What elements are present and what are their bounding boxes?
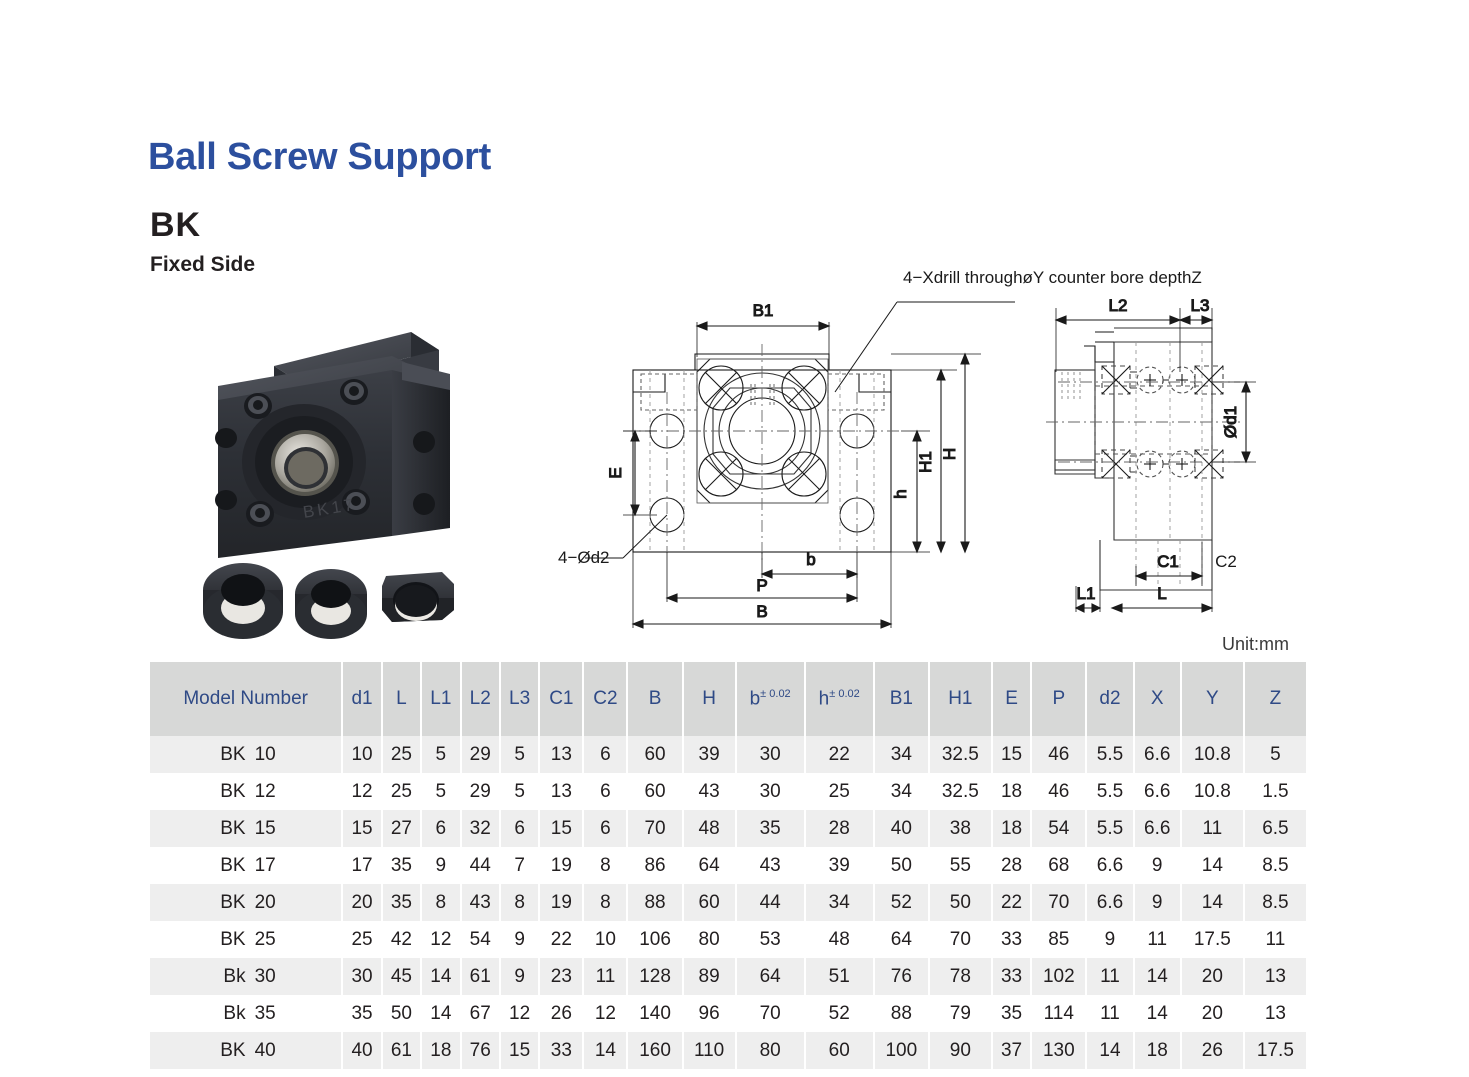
cell-L3: 5 (501, 773, 538, 810)
cell-model: BK12 (150, 773, 341, 810)
cell-d2: 9 (1087, 921, 1132, 958)
cell-model: BK10 (150, 736, 341, 773)
cell-H1: 55 (930, 847, 991, 884)
cell-Y: 17.5 (1182, 921, 1243, 958)
cell-B: 70 (628, 810, 681, 847)
page-title: Ball Screw Support (148, 136, 491, 179)
callout-counterbore (835, 302, 1015, 392)
cell-Z: 5 (1245, 736, 1306, 773)
cell-C1: 13 (540, 773, 582, 810)
cell-L: 61 (383, 1032, 420, 1069)
cell-d1: 17 (343, 847, 380, 884)
cell-L3: 12 (501, 995, 538, 1032)
photo-accessory-rings (203, 563, 454, 639)
cell-E: 28 (993, 847, 1030, 884)
cell-L3: 5 (501, 736, 538, 773)
cell-h: 39 (806, 847, 873, 884)
cell-Y: 11 (1182, 810, 1243, 847)
side-view-drawing: L2 L3 Ød1 (1040, 290, 1300, 615)
cell-L1: 6 (422, 810, 459, 847)
cell-Y: 14 (1182, 884, 1243, 921)
cell-Y: 10.8 (1182, 736, 1243, 773)
cell-H1: 70 (930, 921, 991, 958)
cell-H1: 32.5 (930, 773, 991, 810)
cell-B1: 34 (875, 773, 928, 810)
cell-L: 35 (383, 884, 420, 921)
dim-label-d1: Ød1 (1221, 406, 1240, 438)
cell-L2: 43 (462, 884, 499, 921)
cell-P: 85 (1032, 921, 1085, 958)
cell-L: 25 (383, 736, 420, 773)
dim-label-C2: C2 (1215, 552, 1237, 571)
cell-model: Bk30 (150, 958, 341, 995)
col-header-b: b± 0.02 (737, 662, 804, 736)
cell-L: 50 (383, 995, 420, 1032)
cell-b: 80 (737, 1032, 804, 1069)
cell-b: 43 (737, 847, 804, 884)
cell-d2: 6.6 (1087, 847, 1132, 884)
cell-b: 53 (737, 921, 804, 958)
cell-C2: 6 (584, 810, 626, 847)
cell-B: 88 (628, 884, 681, 921)
dim-L1: L1 (1076, 584, 1100, 612)
cell-d1: 12 (343, 773, 380, 810)
cell-b: 70 (737, 995, 804, 1032)
table-row: BK151527632615670483528403818545.56.6116… (150, 810, 1306, 847)
cell-X: 14 (1135, 995, 1180, 1032)
cell-h: 51 (806, 958, 873, 995)
cell-Z: 17.5 (1245, 1032, 1306, 1069)
col-header-B: B (628, 662, 681, 736)
dim-label-B: B (756, 602, 767, 621)
cell-E: 18 (993, 773, 1030, 810)
cell-d1: 20 (343, 884, 380, 921)
cell-L1: 5 (422, 773, 459, 810)
cell-Y: 20 (1182, 958, 1243, 995)
cell-P: 54 (1032, 810, 1085, 847)
cell-L2: 32 (462, 810, 499, 847)
cell-model: BK40 (150, 1032, 341, 1069)
cell-E: 18 (993, 810, 1030, 847)
cell-B1: 52 (875, 884, 928, 921)
cell-B1: 50 (875, 847, 928, 884)
col-header-X: X (1135, 662, 1180, 736)
cell-b: 30 (737, 773, 804, 810)
cell-C1: 19 (540, 884, 582, 921)
col-header-Y: Y (1182, 662, 1243, 736)
cell-C2: 8 (584, 847, 626, 884)
cell-C2: 8 (584, 884, 626, 921)
dim-B1: B1 (697, 301, 829, 357)
cell-Y: 10.8 (1182, 773, 1243, 810)
cell-h: 28 (806, 810, 873, 847)
cell-X: 18 (1135, 1032, 1180, 1069)
cell-B: 60 (628, 773, 681, 810)
table-row: Bk35355014671226121409670528879351141114… (150, 995, 1306, 1032)
cell-Y: 14 (1182, 847, 1243, 884)
cell-L: 25 (383, 773, 420, 810)
table-header: Model Numberd1LL1L2L3C1C2BHb± 0.02h± 0.0… (150, 662, 1306, 736)
col-header-P: P (1032, 662, 1085, 736)
cell-C2: 11 (584, 958, 626, 995)
dim-label-H: H (940, 448, 959, 460)
cell-d1: 40 (343, 1032, 380, 1069)
cell-P: 114 (1032, 995, 1085, 1032)
cell-H: 60 (684, 884, 735, 921)
dim-label-C1: C1 (1157, 552, 1179, 571)
cell-L1: 18 (422, 1032, 459, 1069)
dim-L2: L2 (1056, 296, 1180, 372)
cell-L3: 9 (501, 921, 538, 958)
cell-B: 106 (628, 921, 681, 958)
cell-C1: 19 (540, 847, 582, 884)
cell-C2: 12 (584, 995, 626, 1032)
cell-h: 22 (806, 736, 873, 773)
cell-d1: 15 (343, 810, 380, 847)
cell-H: 89 (684, 958, 735, 995)
cell-C2: 14 (584, 1032, 626, 1069)
col-header-B1: B1 (875, 662, 928, 736)
cell-b: 44 (737, 884, 804, 921)
cell-L2: 61 (462, 958, 499, 995)
cell-L2: 76 (462, 1032, 499, 1069)
table-row: BK2525421254922101068053486470338591117.… (150, 921, 1306, 958)
cell-H: 48 (684, 810, 735, 847)
cell-C1: 26 (540, 995, 582, 1032)
col-header-d2: d2 (1087, 662, 1132, 736)
cell-H: 64 (684, 847, 735, 884)
cell-X: 11 (1135, 921, 1180, 958)
cell-P: 46 (1032, 736, 1085, 773)
cell-P: 130 (1032, 1032, 1085, 1069)
dim-L: L (1112, 584, 1212, 612)
cell-X: 9 (1135, 847, 1180, 884)
cell-Z: 13 (1245, 995, 1306, 1032)
table-row: BK1010255295136603930223432.515465.56.61… (150, 736, 1306, 773)
cell-L: 45 (383, 958, 420, 995)
dim-H: H (891, 354, 981, 552)
cell-B: 60 (628, 736, 681, 773)
cell-B1: 40 (875, 810, 928, 847)
table-row: BK171735944719886644339505528686.69148.5 (150, 847, 1306, 884)
cell-d2: 5.5 (1087, 736, 1132, 773)
cell-H: 96 (684, 995, 735, 1032)
cell-L1: 9 (422, 847, 459, 884)
dim-label-L3: L3 (1191, 296, 1210, 315)
table-row: Bk30304514619231112889645176783310211142… (150, 958, 1306, 995)
cell-d1: 10 (343, 736, 380, 773)
cell-b: 35 (737, 810, 804, 847)
cell-model: BK17 (150, 847, 341, 884)
cell-L1: 8 (422, 884, 459, 921)
model-series-title: BK (150, 206, 201, 245)
dim-label-h: h (891, 489, 910, 498)
table-body: BK1010255295136603930223432.515465.56.61… (150, 736, 1306, 1069)
unit-label: Unit:mm (1222, 634, 1289, 655)
cell-L3: 15 (501, 1032, 538, 1069)
table-row: BK40406118761533141601108060100903713014… (150, 1032, 1306, 1069)
cell-H1: 38 (930, 810, 991, 847)
cell-L: 27 (383, 810, 420, 847)
cell-X: 6.6 (1135, 810, 1180, 847)
cell-d1: 25 (343, 921, 380, 958)
col-header-h: h± 0.02 (806, 662, 873, 736)
cell-d1: 35 (343, 995, 380, 1032)
cell-C2: 6 (584, 736, 626, 773)
dim-label-L2: L2 (1109, 296, 1128, 315)
cell-P: 46 (1032, 773, 1085, 810)
cell-d1: 30 (343, 958, 380, 995)
cell-model: BK15 (150, 810, 341, 847)
col-header-L2: L2 (462, 662, 499, 736)
cell-C1: 22 (540, 921, 582, 958)
cell-b: 64 (737, 958, 804, 995)
cell-E: 37 (993, 1032, 1030, 1069)
cell-B1: 76 (875, 958, 928, 995)
cell-C1: 15 (540, 810, 582, 847)
dim-label-P: P (756, 576, 767, 595)
cell-H1: 78 (930, 958, 991, 995)
cell-E: 15 (993, 736, 1030, 773)
cell-Z: 11 (1245, 921, 1306, 958)
dim-h: h (891, 431, 930, 552)
cell-Z: 8.5 (1245, 884, 1306, 921)
col-header-Z: Z (1245, 662, 1306, 736)
cell-B: 140 (628, 995, 681, 1032)
product-photo: BK17 (196, 322, 484, 642)
cell-L3: 8 (501, 884, 538, 921)
cell-L3: 6 (501, 810, 538, 847)
cell-H1: 32.5 (930, 736, 991, 773)
dim-label-L1: L1 (1077, 584, 1096, 603)
col-header-C2: C2 (584, 662, 626, 736)
cell-h: 60 (806, 1032, 873, 1069)
cell-Y: 26 (1182, 1032, 1243, 1069)
cell-L2: 44 (462, 847, 499, 884)
dim-label-b: b (806, 550, 815, 569)
cell-b: 30 (737, 736, 804, 773)
cell-B1: 100 (875, 1032, 928, 1069)
cell-C1: 33 (540, 1032, 582, 1069)
cell-H: 39 (684, 736, 735, 773)
specification-table: Model Numberd1LL1L2L3C1C2BHb± 0.02h± 0.0… (148, 662, 1308, 1069)
cell-model: BK20 (150, 884, 341, 921)
table-row: BK1212255295136604330253432.518465.56.61… (150, 773, 1306, 810)
cell-P: 70 (1032, 884, 1085, 921)
cell-h: 25 (806, 773, 873, 810)
cell-H1: 90 (930, 1032, 991, 1069)
cell-P: 102 (1032, 958, 1085, 995)
dim-label-H1: H1 (916, 451, 935, 473)
dim-C1: C1 (1136, 542, 1202, 586)
col-header-H: H (684, 662, 735, 736)
dim-d1: Ød1 (1212, 382, 1256, 462)
callout-d2-label: 4−Ød2 (558, 548, 610, 568)
dim-b: b (762, 550, 857, 578)
cell-B: 160 (628, 1032, 681, 1069)
cell-X: 14 (1135, 958, 1180, 995)
cell-Z: 8.5 (1245, 847, 1306, 884)
col-header-H1: H1 (930, 662, 991, 736)
cell-H1: 50 (930, 884, 991, 921)
cell-L1: 5 (422, 736, 459, 773)
col-header-E: E (993, 662, 1030, 736)
cell-d2: 14 (1087, 1032, 1132, 1069)
cell-L3: 7 (501, 847, 538, 884)
cell-B1: 64 (875, 921, 928, 958)
cell-L2: 67 (462, 995, 499, 1032)
cell-X: 6.6 (1135, 736, 1180, 773)
cell-L1: 14 (422, 995, 459, 1032)
cell-C2: 6 (584, 773, 626, 810)
cell-E: 33 (993, 958, 1030, 995)
col-header-C1: C1 (540, 662, 582, 736)
col-header-L: L (383, 662, 420, 736)
cell-model: BK25 (150, 921, 341, 958)
dim-label-E: E (606, 467, 625, 478)
cell-h: 34 (806, 884, 873, 921)
cell-L2: 54 (462, 921, 499, 958)
col-header-d1: d1 (343, 662, 380, 736)
cell-B1: 88 (875, 995, 928, 1032)
cell-H1: 79 (930, 995, 991, 1032)
table-header-row: Model Numberd1LL1L2L3C1C2BHb± 0.02h± 0.0… (150, 662, 1306, 736)
cell-B: 86 (628, 847, 681, 884)
cell-L2: 29 (462, 736, 499, 773)
col-header-model: Model Number (150, 662, 341, 736)
cell-Y: 20 (1182, 995, 1243, 1032)
datasheet-page: Ball Screw Support BK Fixed Side Unit:mm (0, 0, 1469, 1077)
cell-E: 22 (993, 884, 1030, 921)
cell-L: 35 (383, 847, 420, 884)
cell-d2: 5.5 (1087, 773, 1132, 810)
dim-label-L: L (1157, 584, 1166, 603)
cell-C1: 23 (540, 958, 582, 995)
cell-d2: 11 (1087, 995, 1132, 1032)
cell-h: 52 (806, 995, 873, 1032)
cell-C2: 10 (584, 921, 626, 958)
cell-E: 35 (993, 995, 1030, 1032)
front-view-drawing: B1 E (545, 262, 1015, 637)
dim-label-B1: B1 (753, 301, 774, 320)
specification-table-wrapper: Model Numberd1LL1L2L3C1C2BHb± 0.02h± 0.0… (148, 662, 1308, 1069)
cell-H: 80 (684, 921, 735, 958)
cell-E: 33 (993, 921, 1030, 958)
cell-P: 68 (1032, 847, 1085, 884)
table-row: BK202035843819888604434525022706.69148.5 (150, 884, 1306, 921)
cell-model: Bk35 (150, 995, 341, 1032)
cell-L1: 12 (422, 921, 459, 958)
cell-X: 6.6 (1135, 773, 1180, 810)
cell-L1: 14 (422, 958, 459, 995)
cell-H: 110 (684, 1032, 735, 1069)
cell-L2: 29 (462, 773, 499, 810)
cell-H: 43 (684, 773, 735, 810)
cell-C1: 13 (540, 736, 582, 773)
cell-h: 48 (806, 921, 873, 958)
cell-d2: 5.5 (1087, 810, 1132, 847)
cell-Z: 1.5 (1245, 773, 1306, 810)
callout-counterbore-label: 4−Xdrill throughøY counter bore depthZ (903, 268, 1202, 288)
cell-d2: 11 (1087, 958, 1132, 995)
cell-Z: 6.5 (1245, 810, 1306, 847)
col-header-L3: L3 (501, 662, 538, 736)
dim-L3: L3 (1180, 296, 1212, 330)
cell-Z: 13 (1245, 958, 1306, 995)
model-subtitle: Fixed Side (150, 253, 255, 277)
cell-L: 42 (383, 921, 420, 958)
cell-B: 128 (628, 958, 681, 995)
cell-X: 9 (1135, 884, 1180, 921)
cell-L3: 9 (501, 958, 538, 995)
dim-E: E (606, 431, 657, 515)
col-header-L1: L1 (422, 662, 459, 736)
cell-d2: 6.6 (1087, 884, 1132, 921)
cell-B1: 34 (875, 736, 928, 773)
